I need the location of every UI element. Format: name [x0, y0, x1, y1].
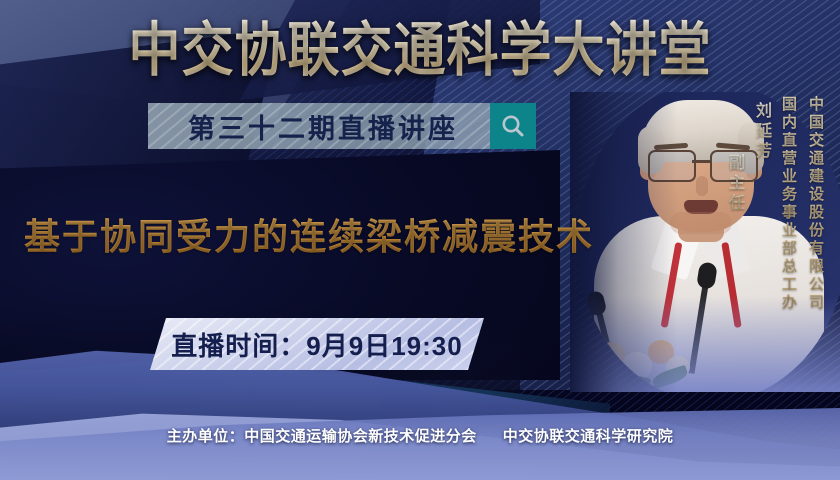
speaker-title: 副主任: [724, 154, 745, 214]
speaker-credentials: 中国交通建设股份有限公司 国内直营业务事业部总工办 刘延芳 副主任: [724, 96, 826, 312]
speaker-name: 刘延芳: [751, 102, 772, 162]
speaker-department: 国内直营业务事业部总工办: [778, 96, 799, 312]
search-icon[interactable]: [490, 103, 536, 149]
main-title: 中交协联交通科学大讲堂: [0, 16, 840, 85]
series-label: 第三十二期直播讲座: [188, 107, 458, 146]
broadcast-time-banner: 直播时间：9月9日19:30: [150, 318, 484, 370]
footer: 主办单位：中国交通运输协会新技术促进分会中交协联交通科学研究院: [0, 425, 840, 446]
footer-organizer-2: 中交协联交通科学研究院: [503, 428, 674, 445]
footer-prefix: 主办单位：: [167, 428, 245, 445]
series-bar: 第三十二期直播讲座: [148, 103, 498, 149]
broadcast-time-label: 直播时间：9月9日19:30: [171, 326, 462, 363]
live-lecture-poster: 中交协联交通科学大讲堂 第三十二期直播讲座 基于协同受力的连续梁桥减震技术 直播…: [0, 0, 840, 480]
speaker-organization: 中国交通建设股份有限公司: [805, 96, 826, 312]
footer-organizer-1: 中国交通运输协会新技术促进分会: [244, 428, 477, 445]
podium-flowers: [570, 328, 766, 392]
lecture-title: 基于协同受力的连续梁桥减震技术: [24, 208, 594, 260]
